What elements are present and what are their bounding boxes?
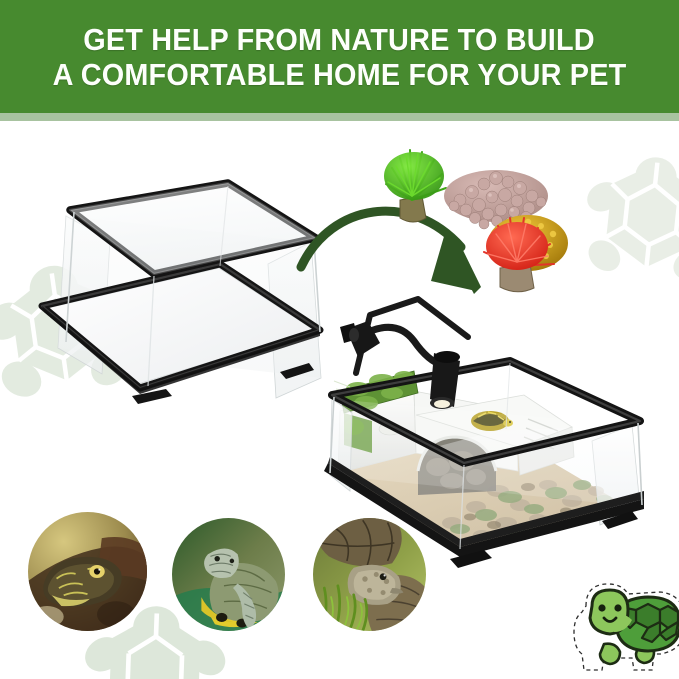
photo-painted-turtle-head: [28, 512, 147, 631]
header-banner: GET HELP FROM NATURE TO BUILD A COMFORTA…: [0, 0, 679, 113]
infographic-canvas: GET HELP FROM NATURE TO BUILD A COMFORTA…: [0, 0, 679, 679]
photo-slider-turtle: [172, 518, 285, 631]
banner-line-2: A COMFORTABLE HOME FOR YOUR PET: [53, 57, 627, 92]
green-grass-plant: [384, 150, 446, 222]
photo-tortoise-grass: [313, 518, 426, 631]
banner-accent-strip: [0, 113, 679, 121]
cartoon-turtle-sticker: [556, 566, 679, 679]
decoration-cluster: [378, 140, 593, 295]
banner-line-1: GET HELP FROM NATURE TO BUILD: [84, 22, 596, 57]
